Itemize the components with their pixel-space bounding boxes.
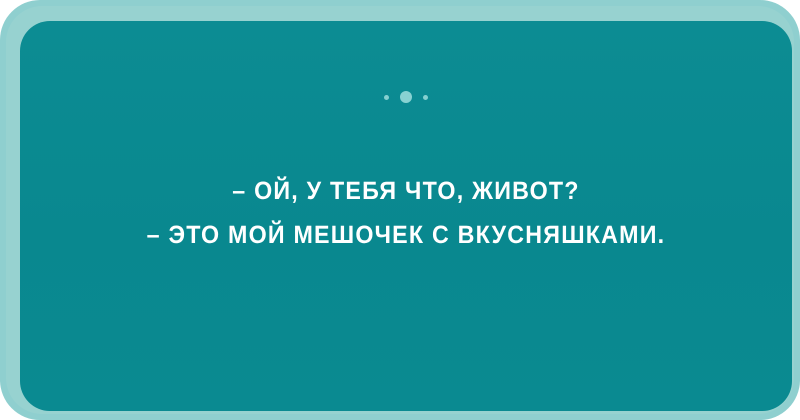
dot-left-icon <box>384 95 389 100</box>
quote-line-question: – ОЙ, У ТЕБЯ ЧТО, ЖИВОТ? <box>71 169 741 213</box>
quote-text-block: – ОЙ, У ТЕБЯ ЧТО, ЖИВОТ? – ЭТО МОЙ МЕШОЧ… <box>20 169 792 257</box>
outer-frame-panel: – ОЙ, У ТЕБЯ ЧТО, ЖИВОТ? – ЭТО МОЙ МЕШОЧ… <box>0 0 800 420</box>
quote-line-answer: – ЭТО МОЙ МЕШОЧЕК С ВКУСНЯШКАМИ. <box>71 213 741 257</box>
dot-right-icon <box>423 95 428 100</box>
quote-card: – ОЙ, У ТЕБЯ ЧТО, ЖИВОТ? – ЭТО МОЙ МЕШОЧ… <box>20 21 792 411</box>
dot-ornament <box>20 89 792 105</box>
dot-center-icon <box>400 91 412 103</box>
inner-ring-band: – ОЙ, У ТЕБЯ ЧТО, ЖИВОТ? – ЭТО МОЙ МЕШОЧ… <box>6 6 794 414</box>
screenshot-stage: – ОЙ, У ТЕБЯ ЧТО, ЖИВОТ? – ЭТО МОЙ МЕШОЧ… <box>0 0 800 420</box>
